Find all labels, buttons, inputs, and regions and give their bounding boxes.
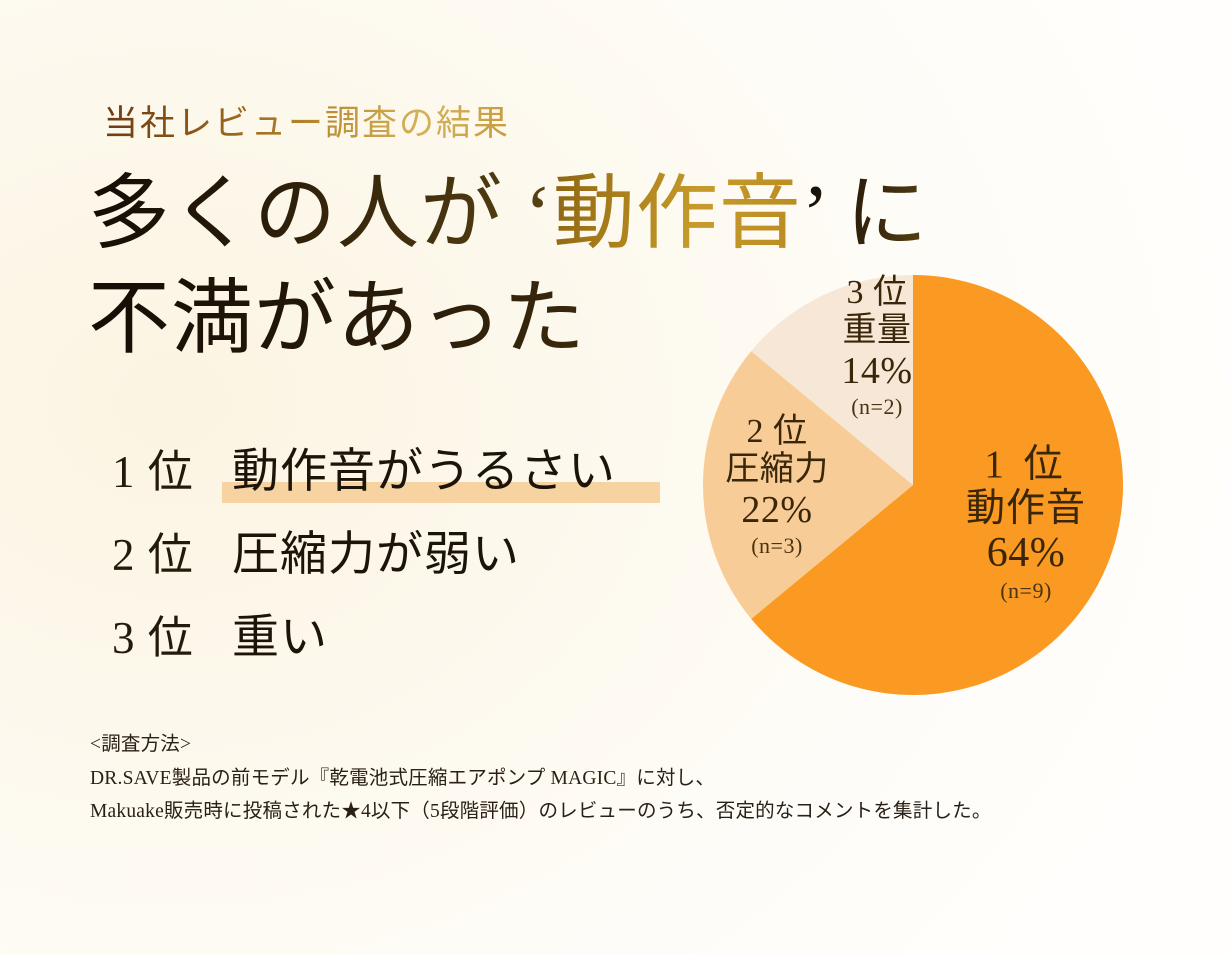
ranking-item-3: 3 位 重い (112, 598, 692, 675)
slide-canvas: 当社レビュー調査の結果 多くの人が ‘動作音’ に 不満があった 1 位 動作音… (0, 0, 1230, 955)
pie-label-1-percent: 64% (931, 530, 1121, 577)
pie-label-2-count: (n=3) (697, 534, 857, 559)
ranking-item-1-label: 動作音がうるさい (232, 432, 616, 501)
methodology-note-line-3: Makuake販売時に投稿された★4以下（5段階評価）のレビューのうち、否定的な… (90, 795, 992, 829)
pie-label-1-rank: 1 位 (931, 443, 1121, 487)
pie-label-3: 3 位 重量 14% (n=2) (811, 274, 943, 419)
pie-label-3-percent: 14% (811, 350, 943, 393)
pie-label-2-name: 圧縮力 (697, 451, 857, 489)
methodology-note-line-2: DR.SAVE製品の前モデル『乾電池式圧縮エアポンプ MAGIC』に対し、 (90, 762, 992, 796)
pie-label-1: 1 位 動作音 64% (n=9) (931, 443, 1121, 604)
headline-line-1-part-b: ’ に (802, 168, 929, 259)
ranking-item-3-label: 重い (232, 598, 328, 667)
ranking-item-1: 1 位 動作音がうるさい (112, 432, 692, 509)
headline-keyword: 動作音 (553, 168, 802, 259)
ranking-item-2-label: 圧縮力が弱い (232, 515, 520, 584)
ranking-list: 1 位 動作音がうるさい 2 位 圧縮力が弱い 3 位 重い (112, 432, 692, 675)
ranking-item-2-rank: 2 位 (112, 518, 232, 583)
pie-label-1-name: 動作音 (931, 487, 1121, 531)
pie-label-3-name: 重量 (811, 312, 943, 350)
ranking-item-1-rank: 1 位 (112, 435, 232, 500)
eyebrow-text: 当社レビュー調査の結果 (103, 95, 510, 146)
methodology-note: <調査方法> DR.SAVE製品の前モデル『乾電池式圧縮エアポンプ MAGIC』… (90, 728, 992, 829)
pie-label-3-count: (n=2) (811, 395, 943, 420)
pie-label-2: 2 位 圧縮力 22% (n=3) (697, 413, 857, 558)
pie-label-1-count: (n=9) (931, 579, 1121, 604)
headline-line-1-part-a: 多くの人が ‘ (88, 168, 553, 259)
pie-label-3-rank: 3 位 (811, 274, 943, 312)
pie-label-2-percent: 22% (697, 489, 857, 532)
ranking-item-3-rank: 3 位 (112, 601, 232, 666)
methodology-note-line-1: <調査方法> (90, 728, 992, 762)
headline-line-1: 多くの人が ‘動作音’ に (88, 162, 918, 267)
ranking-item-2: 2 位 圧縮力が弱い (112, 515, 692, 592)
pie-chart: 1 位 動作音 64% (n=9) 2 位 圧縮力 22% (n=3) 3 位 … (703, 275, 1123, 695)
